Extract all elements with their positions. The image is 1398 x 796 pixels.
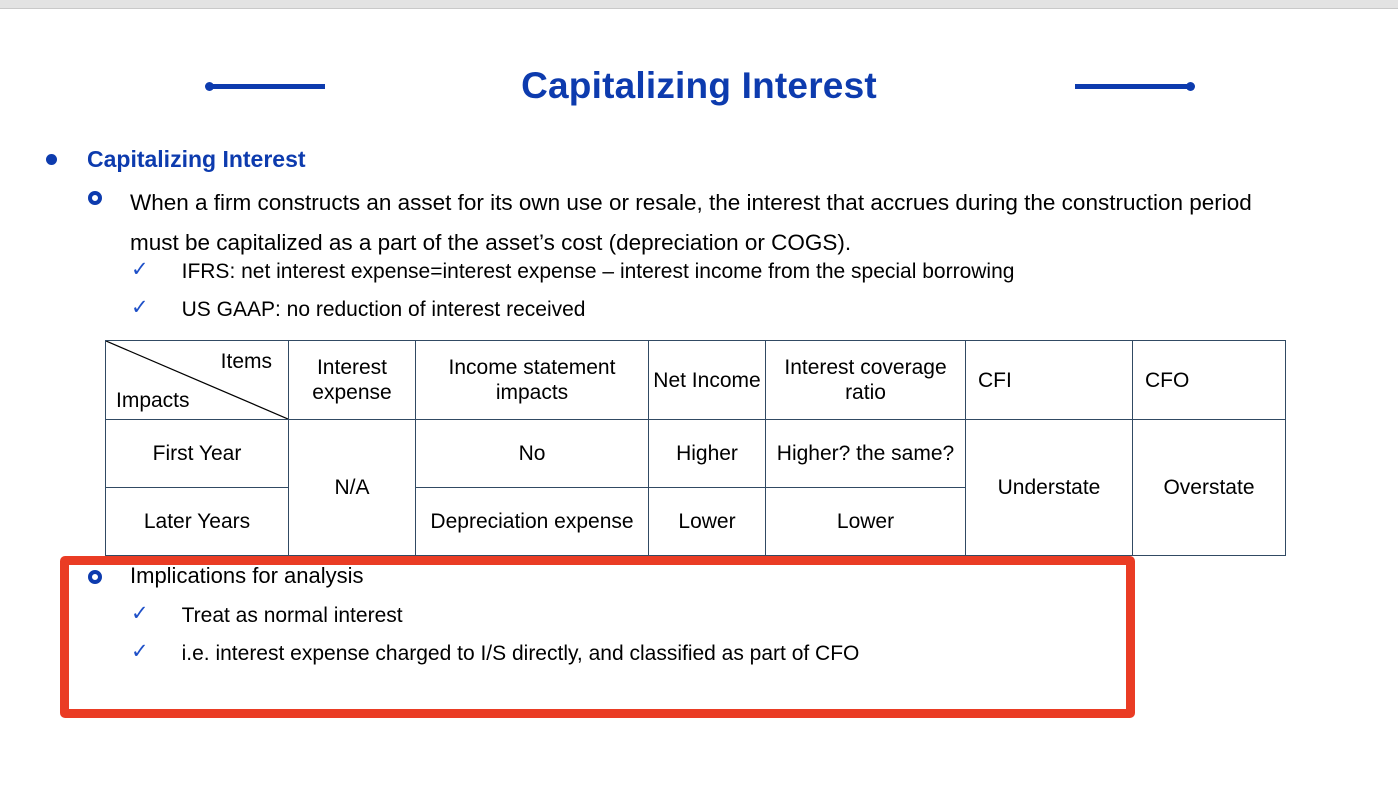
- bullet-sub-point-label: US GAAP: no reduction of interest receiv…: [182, 297, 1291, 323]
- callout-item-treat-as-normal-interest: ✓ Treat as normal interest: [131, 603, 1031, 629]
- table-header-cfo: CFO: [1133, 341, 1286, 420]
- table-header-income-statement-impacts: Income statement impacts: [416, 341, 649, 420]
- cell-interest-coverage-later-years: Lower: [766, 488, 966, 556]
- filled-circle-bullet-icon: [46, 154, 57, 165]
- callout-item-interest-expense-cfo: ✓ i.e. interest expense charged to I/S d…: [131, 641, 1111, 667]
- cell-cfo-overstate: Overstate: [1133, 420, 1286, 556]
- checkmark-bullet-icon: ✓: [131, 297, 149, 318]
- table-header-interest-expense: Interest expense: [289, 341, 416, 420]
- table-header-cfi: CFI: [966, 341, 1133, 420]
- checkmark-bullet-icon: ✓: [131, 603, 149, 624]
- callout-heading: Implications for analysis: [88, 563, 988, 589]
- table-row-first-year: First Year N/A No Higher Higher? the sam…: [106, 420, 1286, 488]
- table-header-row: Items Impacts Interest expense Income st…: [106, 341, 1286, 420]
- callout-item-label: i.e. interest expense charged to I/S dir…: [182, 641, 1111, 667]
- bullet-main-point: When a firm constructs an asset for its …: [88, 183, 1268, 263]
- bullet-sub-point-label: IFRS: net interest expense=interest expe…: [182, 259, 1291, 285]
- bullet-sub-point-usgaap: ✓ US GAAP: no reduction of interest rece…: [131, 297, 1291, 323]
- bullet-heading: Capitalizing Interest: [46, 146, 746, 172]
- hollow-circle-bullet-icon: [88, 570, 102, 584]
- cell-net-income-first-year: Higher: [649, 420, 766, 488]
- callout-heading-label: Implications for analysis: [130, 563, 988, 589]
- corner-impacts-label: Impacts: [116, 388, 190, 413]
- cell-interest-coverage-first-year: Higher? the same?: [766, 420, 966, 488]
- title-decoration-right: [1075, 82, 1195, 90]
- cell-interest-expense-na: N/A: [289, 420, 416, 556]
- cell-net-income-later-years: Lower: [649, 488, 766, 556]
- row-label-later-years: Later Years: [106, 488, 289, 556]
- row-label-first-year: First Year: [106, 420, 289, 488]
- table-header-net-income: Net Income: [649, 341, 766, 420]
- checkmark-bullet-icon: ✓: [131, 259, 149, 280]
- cell-income-statement-impacts-first-year: No: [416, 420, 649, 488]
- cell-cfi-understate: Understate: [966, 420, 1133, 556]
- bullet-heading-label: Capitalizing Interest: [87, 146, 746, 172]
- impact-comparison-table: Items Impacts Interest expense Income st…: [105, 340, 1286, 556]
- table-header-interest-coverage-ratio: Interest coverage ratio: [766, 341, 966, 420]
- hollow-circle-bullet-icon: [88, 191, 102, 205]
- bullet-main-point-label: When a firm constructs an asset for its …: [130, 183, 1268, 263]
- decoration-dot-icon: [1186, 82, 1195, 91]
- bullet-sub-point-ifrs: ✓ IFRS: net interest expense=interest ex…: [131, 259, 1291, 285]
- top-gray-strip: [0, 0, 1398, 9]
- table-corner-cell: Items Impacts: [106, 341, 289, 420]
- checkmark-bullet-icon: ✓: [131, 641, 149, 662]
- corner-items-label: Items: [221, 349, 272, 374]
- title-row: Capitalizing Interest: [0, 50, 1398, 122]
- decoration-line-icon: [1075, 84, 1189, 89]
- cell-income-statement-impacts-later-years: Depreciation expense: [416, 488, 649, 556]
- callout-item-label: Treat as normal interest: [182, 603, 1031, 629]
